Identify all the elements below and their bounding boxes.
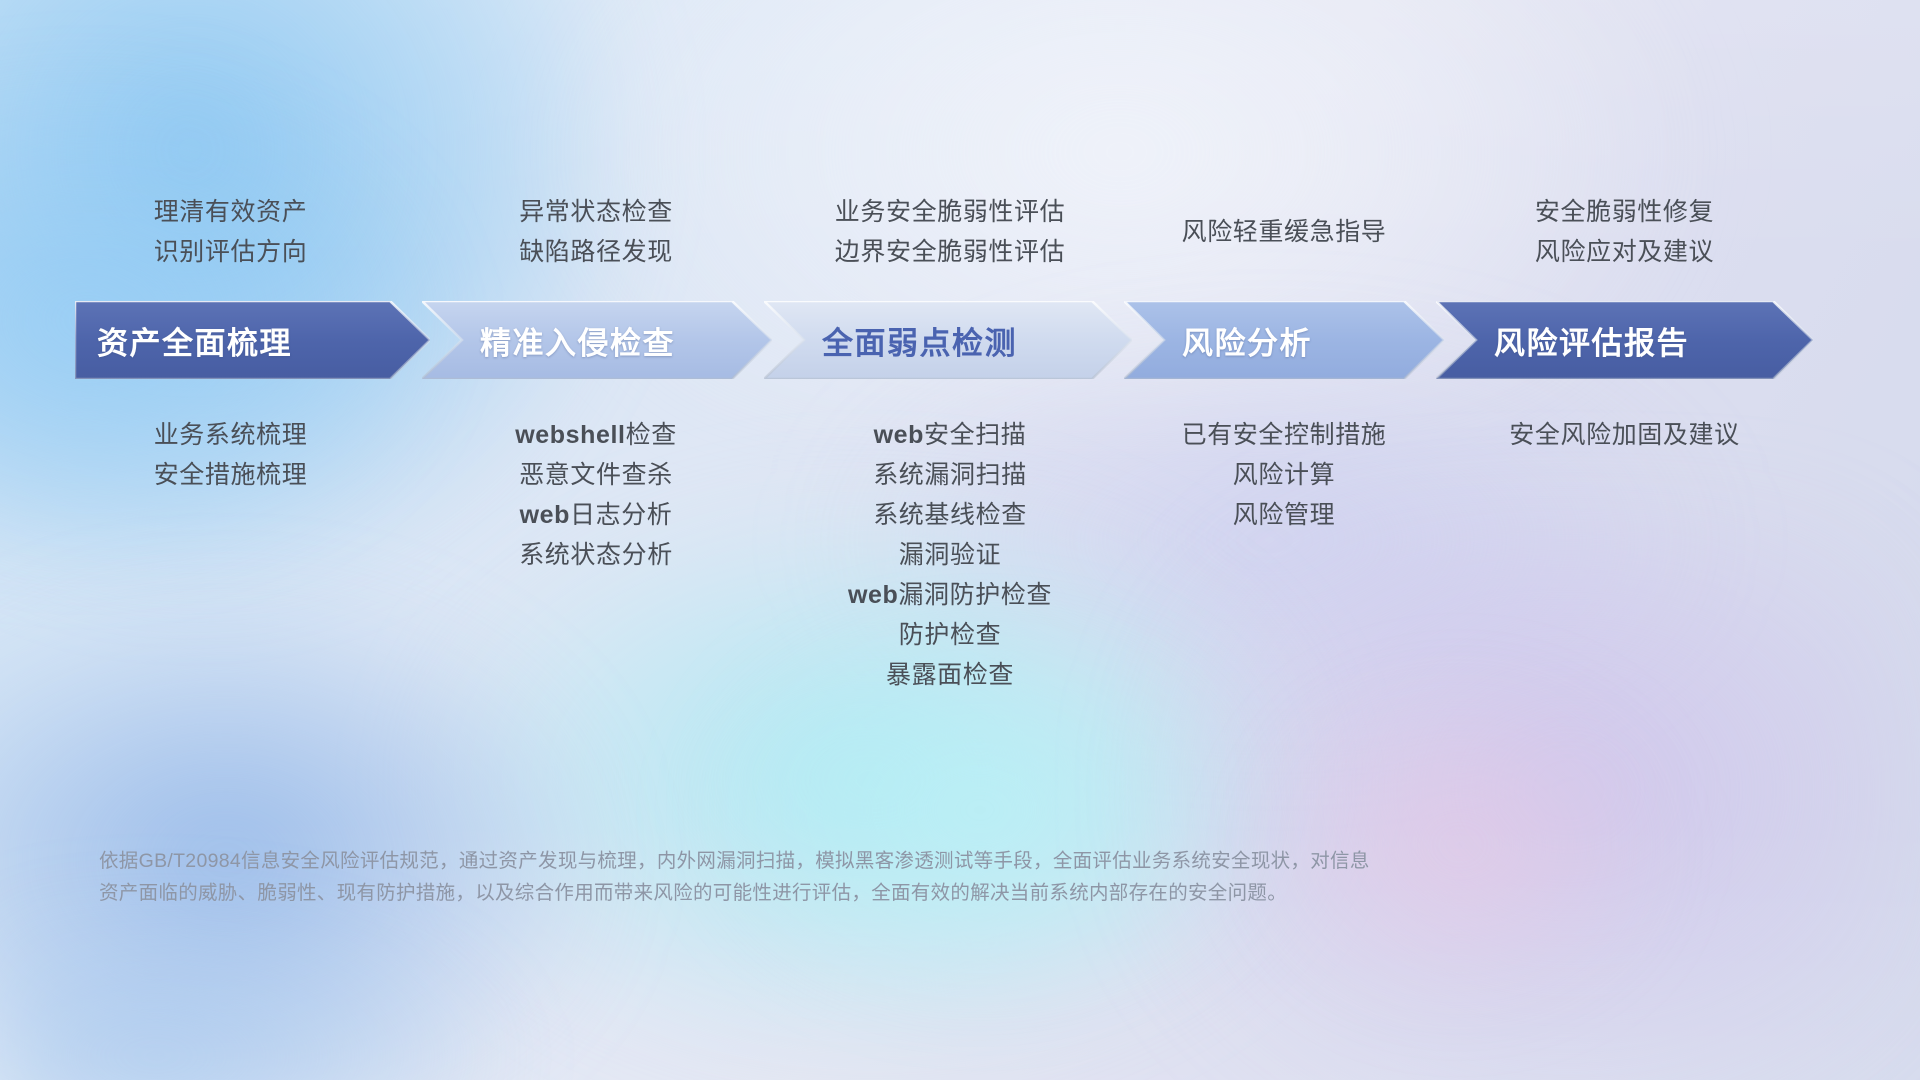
process-step-weakness-detection[interactable]: 全面弱点检测 [764,301,1132,379]
caption-line: 风险应对及建议 [1325,232,1920,272]
caption-line: 风险计算 [984,455,1584,495]
caption-line: 防护检查 [650,615,1250,655]
process-step-risk-analysis[interactable]: 风险分析 [1124,301,1444,379]
description-footer: 依据GB/T20984信息安全风险评估规范，通过资产发现与梳理，内外网漏洞扫描，… [99,845,1519,909]
footer-line-1: 依据GB/T20984信息安全风险评估规范，通过资产发现与梳理，内外网漏洞扫描，… [99,845,1519,877]
process-step-label: 精准入侵检查 [480,318,675,363]
caption-line: 安全风险加固及建议 [1325,415,1920,455]
caption-line: 风险管理 [984,495,1584,535]
footer-line-2: 资产面临的威胁、脆弱性、现有防护措施，以及综合作用而带来风险的可能性进行评估，全… [99,877,1519,909]
process-step-intrusion-check[interactable]: 精准入侵检查 [422,301,772,379]
process-step-label: 全面弱点检测 [822,318,1017,363]
caption-line: 安全脆弱性修复 [1325,192,1920,232]
caption-line: web漏洞防护检查 [650,575,1250,615]
caption-line: 暴露面检查 [650,655,1250,695]
process-step-risk-report[interactable]: 风险评估报告 [1436,301,1813,379]
caption-line: 漏洞验证 [650,535,1250,575]
process-arrow-band: 资产全面梳理精准入侵检查全面弱点检测风险分析风险评估报告 [75,301,1845,379]
process-step-label: 资产全面梳理 [97,318,292,363]
process-step-label: 风险分析 [1182,318,1312,363]
process-diagram: 理清有效资产识别评估方向 异常状态检查缺陷路径发现 业务安全脆弱性评估边界安全脆… [0,0,1920,1080]
process-step-label: 风险评估报告 [1494,318,1689,363]
process-step-asset-inventory[interactable]: 资产全面梳理 [75,301,430,379]
